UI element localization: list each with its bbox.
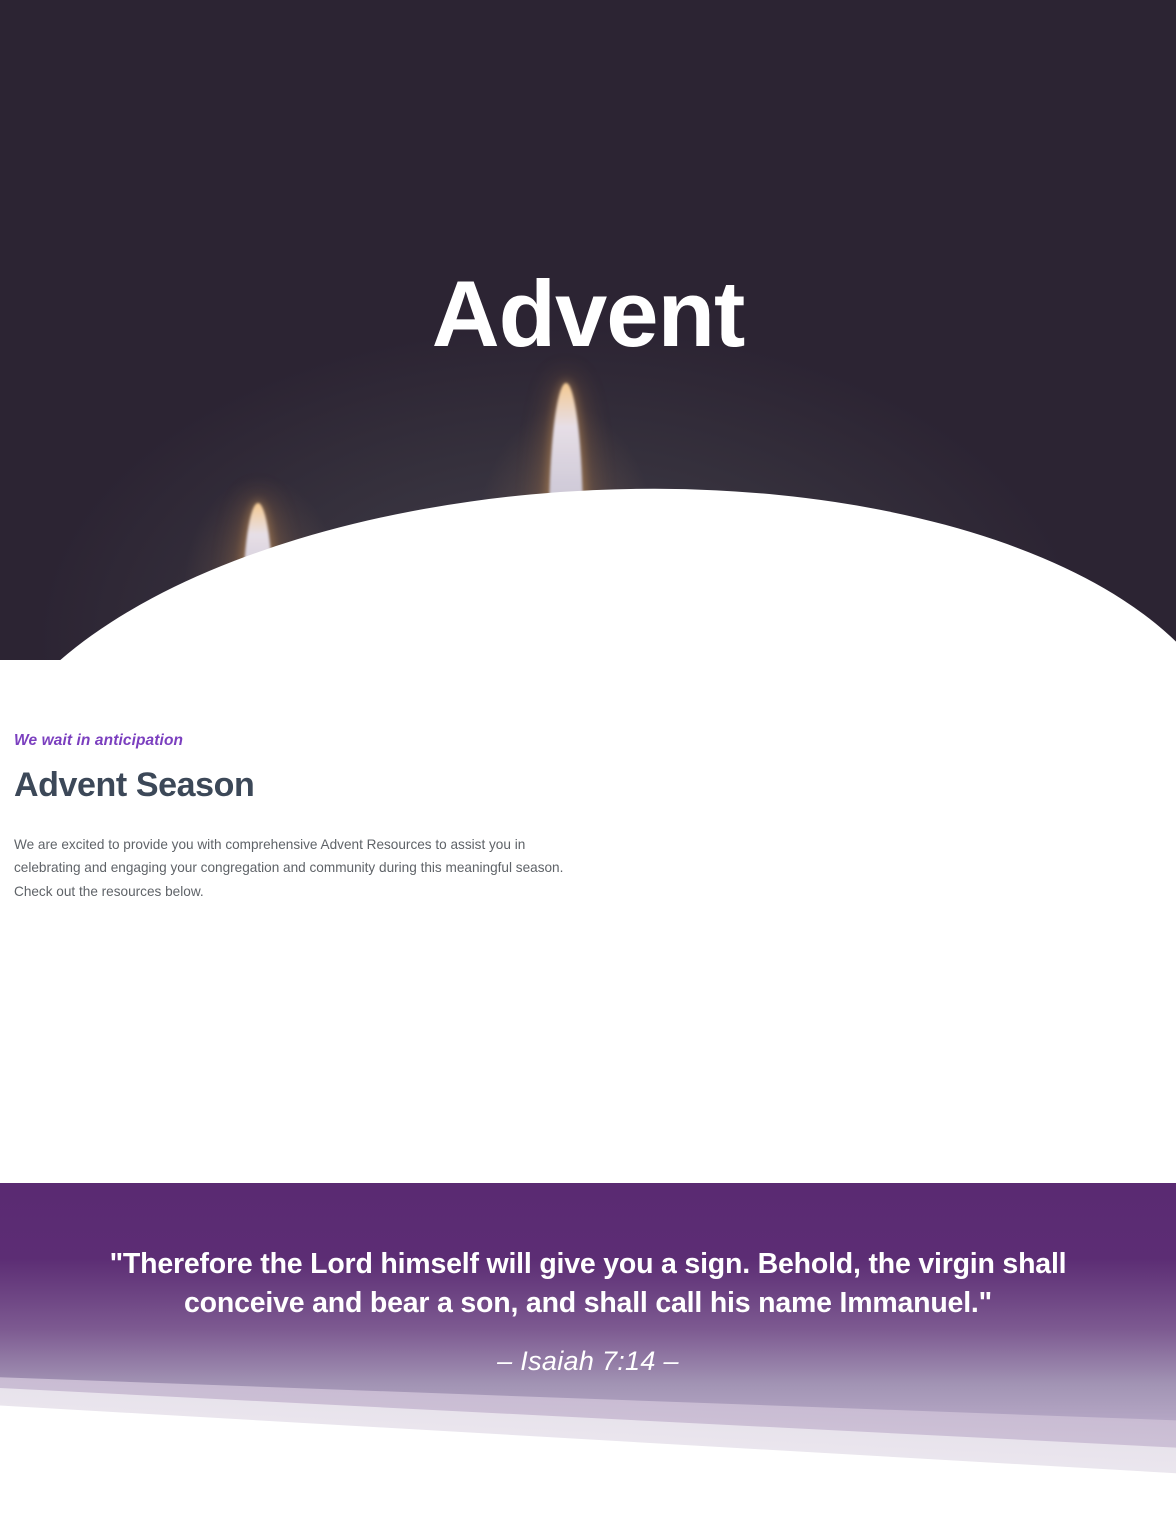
scripture-reference: – Isaiah 7:14 – <box>0 1346 1176 1377</box>
quote-line-2: conceive and bear a son, and shall call … <box>184 1287 992 1319</box>
intro-text-block: We wait in anticipation Advent Season We… <box>14 732 594 903</box>
scripture-quote-text: "Therefore the Lord himself will give yo… <box>0 1245 1176 1324</box>
hero-title: Advent <box>0 265 1176 364</box>
hero-section: Advent <box>0 0 1176 660</box>
intro-eyebrow: We wait in anticipation <box>14 732 594 750</box>
intro-heading: Advent Season <box>14 766 594 805</box>
advent-landing-page: Advent We wait in anticipation Advent Se… <box>0 0 1176 1523</box>
intro-body-text: We are excited to provide you with compr… <box>14 833 580 903</box>
quote-line-1: "Therefore the Lord himself will give yo… <box>110 1248 1067 1280</box>
intro-section: We wait in anticipation Advent Season We… <box>0 660 1176 1183</box>
